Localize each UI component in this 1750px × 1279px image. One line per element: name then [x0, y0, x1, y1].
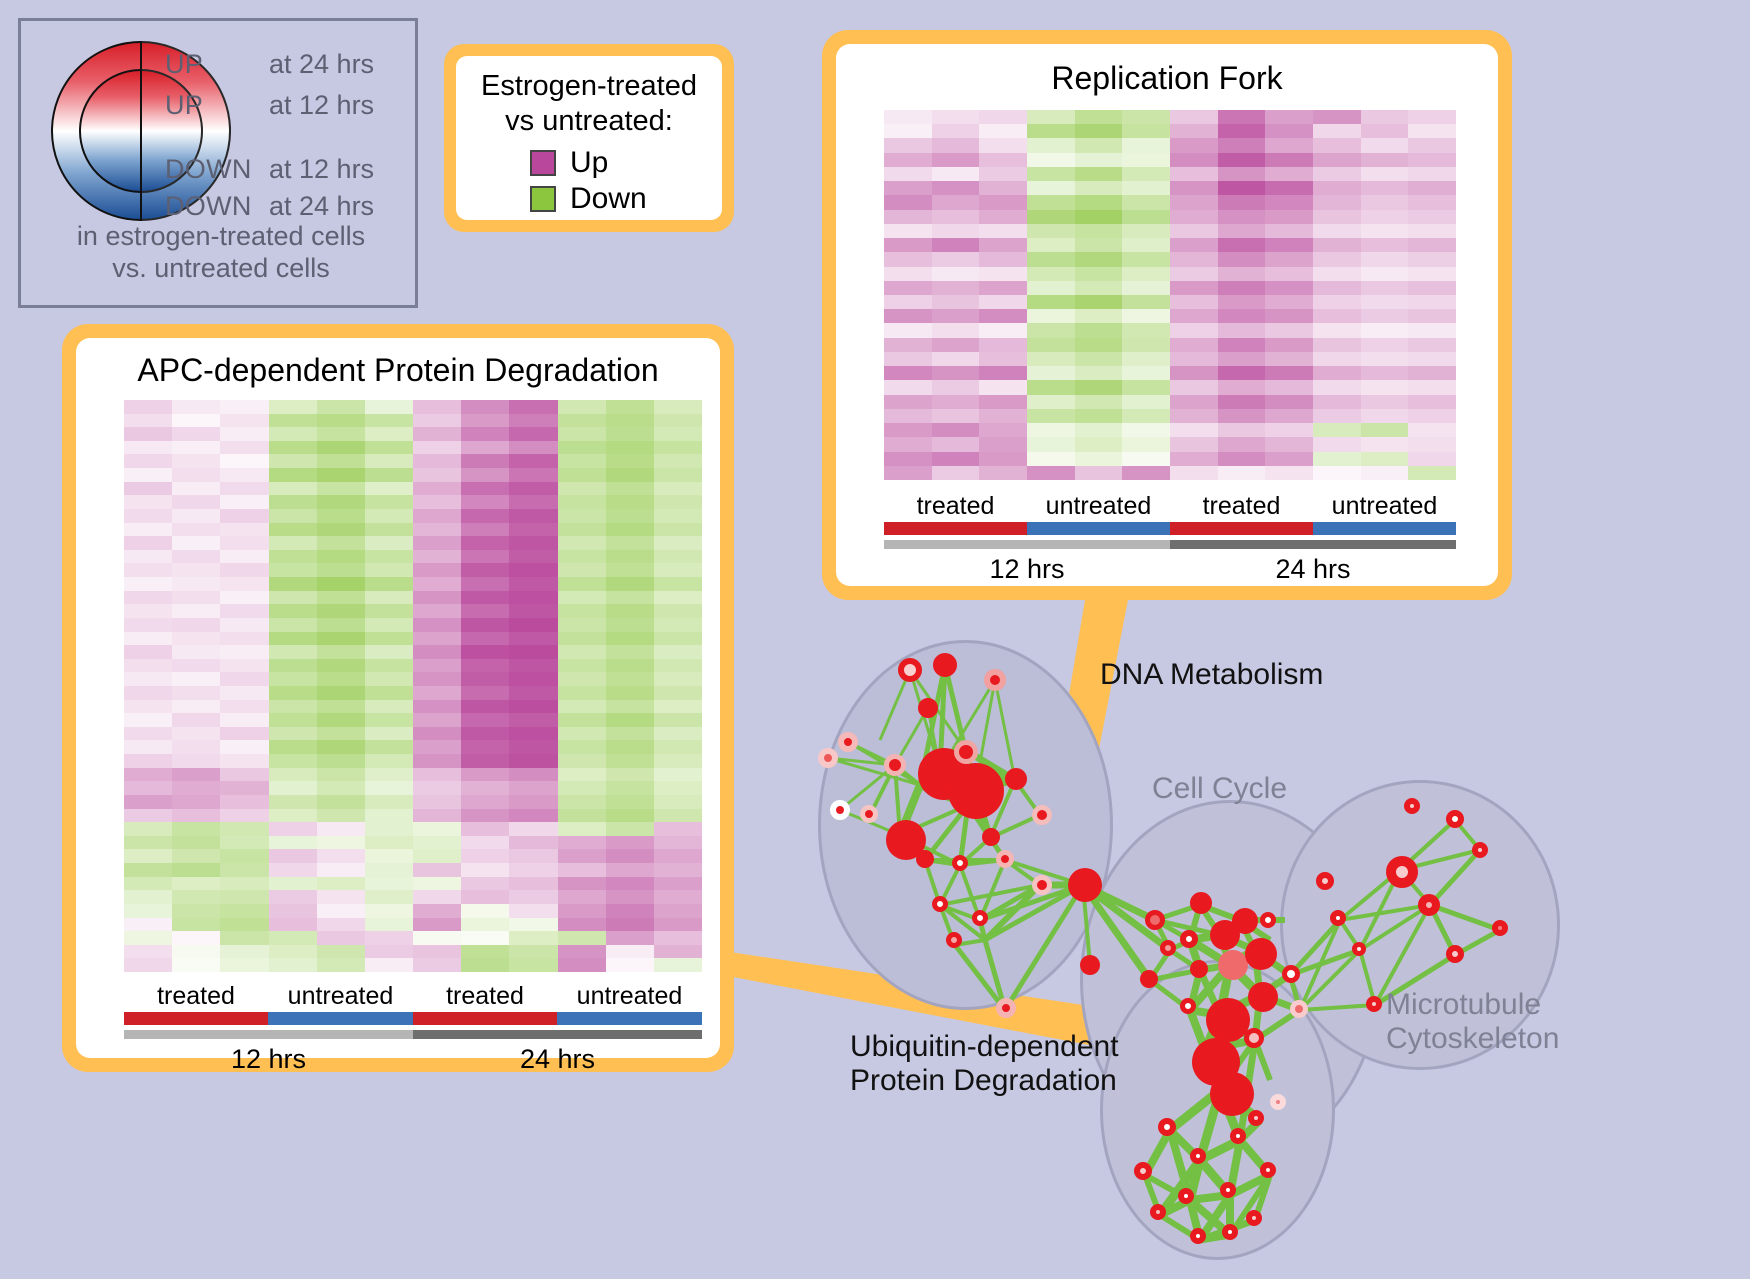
node [996, 850, 1014, 868]
node [818, 748, 838, 768]
node [1134, 1162, 1152, 1180]
node [1178, 1188, 1194, 1204]
node [996, 998, 1016, 1018]
node [1270, 1094, 1286, 1110]
node [1218, 950, 1248, 980]
node [1158, 1118, 1176, 1136]
node [972, 910, 988, 926]
cluster-label-microtubule-line2: Cytoskeleton [1386, 1022, 1559, 1056]
node [1316, 872, 1334, 890]
node [1248, 1110, 1264, 1126]
node [884, 754, 906, 776]
node [1032, 875, 1052, 895]
cluster-label-dna-metabolism: DNA Metabolism [1100, 658, 1323, 692]
network-diagram: DNA Metabolism Cell Cycle Microtubule Cy… [800, 620, 1750, 1279]
node [982, 828, 1000, 846]
node [1005, 768, 1027, 790]
node [1220, 1182, 1236, 1198]
cluster-label-ubiquitin-line2: Protein Degradation [850, 1064, 1119, 1098]
cluster-label-ubiquitin: Ubiquitin-dependent Protein Degradation [850, 1030, 1119, 1098]
node [1446, 945, 1464, 963]
cluster-label-microtubule-line1: Microtubule [1386, 988, 1559, 1022]
node [1190, 892, 1212, 914]
node [1032, 805, 1052, 825]
node [952, 855, 968, 871]
node [932, 896, 948, 912]
node [1260, 912, 1276, 928]
node [1248, 982, 1278, 1012]
node [1290, 1000, 1308, 1018]
node [1150, 1204, 1166, 1220]
node [1140, 970, 1158, 988]
node [1245, 938, 1277, 970]
node [1260, 1162, 1276, 1178]
node [1180, 930, 1198, 948]
node [830, 800, 850, 820]
node [1282, 965, 1300, 983]
node [1492, 920, 1508, 936]
node [1160, 940, 1176, 956]
node [1068, 868, 1102, 902]
node [1222, 1224, 1238, 1240]
node [1246, 1210, 1262, 1226]
node [1180, 998, 1196, 1014]
node [1190, 1228, 1206, 1244]
node [1230, 1128, 1246, 1144]
node [1232, 908, 1258, 934]
node [1352, 942, 1366, 956]
node [1145, 910, 1165, 930]
node [916, 850, 934, 868]
node [838, 732, 858, 752]
node [1330, 910, 1346, 926]
node [860, 805, 878, 823]
node [1366, 996, 1382, 1012]
node [1190, 1148, 1206, 1164]
node [1418, 894, 1440, 916]
node [1210, 1072, 1254, 1116]
node [948, 763, 1004, 819]
node [1244, 1028, 1264, 1048]
node [984, 669, 1006, 691]
node [1472, 842, 1488, 858]
cluster-label-microtubule: Microtubule Cytoskeleton [1386, 988, 1559, 1056]
node [946, 932, 962, 948]
node [954, 740, 978, 764]
node [1190, 960, 1208, 978]
node [1404, 798, 1420, 814]
node [1386, 856, 1418, 888]
node [1080, 955, 1100, 975]
cluster-label-cell-cycle: Cell Cycle [1152, 772, 1287, 806]
node [918, 698, 938, 718]
node [933, 653, 957, 677]
node [1446, 810, 1464, 828]
node [898, 658, 922, 682]
cluster-label-ubiquitin-line1: Ubiquitin-dependent [850, 1030, 1119, 1064]
